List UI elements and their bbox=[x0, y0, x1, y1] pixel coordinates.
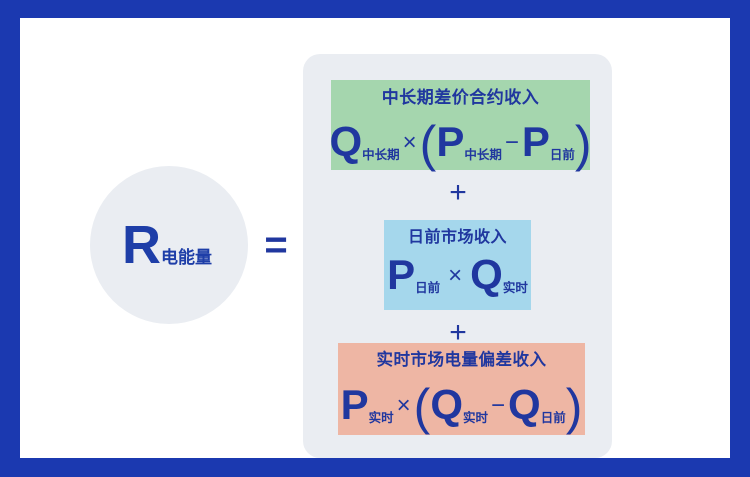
term-symbol: P bbox=[341, 384, 368, 426]
formula-box-heading: 日前市场收入 bbox=[384, 225, 531, 250]
term-symbol: Q bbox=[430, 384, 462, 426]
term-subscript: 实时 bbox=[503, 282, 528, 295]
term-subscript: 日前 bbox=[415, 282, 440, 295]
paren-close: ) bbox=[575, 119, 592, 169]
formula-panel: 中长期差价合约收入 Q 中长期 × ( P 中长期 − P 日前 ) + 日 bbox=[303, 54, 612, 458]
term-symbol: Q bbox=[508, 384, 540, 426]
plus-sign-1: + bbox=[443, 178, 473, 208]
times-operator: × bbox=[403, 131, 417, 155]
term-subscript: 日前 bbox=[541, 412, 566, 425]
formula-expression: P 日前 × Q 实时 bbox=[384, 254, 531, 296]
times-operator: × bbox=[397, 394, 411, 418]
equals-sign: = bbox=[258, 223, 294, 267]
term-subscript: 实时 bbox=[463, 412, 488, 425]
term-symbol: P bbox=[387, 254, 414, 296]
formula-expression: Q 中长期 × ( P 中长期 − P 日前 ) bbox=[331, 114, 590, 164]
term-subscript: 日前 bbox=[550, 149, 575, 162]
term-subscript: 实时 bbox=[369, 412, 394, 425]
minus-operator: − bbox=[491, 394, 505, 418]
paren-open: ( bbox=[414, 382, 431, 432]
left-term-subscript: 电能量 bbox=[161, 249, 212, 266]
minus-operator: − bbox=[505, 131, 519, 155]
outer-blue-frame: R 电能量 = 中长期差价合约收入 Q 中长期 × ( P 中长期 − P bbox=[0, 0, 750, 477]
formula-box-heading: 实时市场电量偏差收入 bbox=[338, 348, 585, 373]
formula-box-real-time-deviation: 实时市场电量偏差收入 P 实时 × ( Q 实时 − Q 日前 ) bbox=[338, 343, 585, 435]
times-operator: × bbox=[448, 264, 462, 288]
left-term-symbol: R bbox=[122, 218, 160, 272]
term-subscript: 中长期 bbox=[362, 149, 400, 162]
term-symbol: Q bbox=[329, 121, 361, 163]
term-subscript: 中长期 bbox=[464, 149, 502, 162]
paren-open: ( bbox=[420, 119, 437, 169]
term-symbol: P bbox=[436, 121, 463, 163]
left-term-circle: R 电能量 bbox=[90, 166, 248, 324]
diagram-canvas: R 电能量 = 中长期差价合约收入 Q 中长期 × ( P 中长期 − P bbox=[20, 18, 730, 458]
paren-close: ) bbox=[566, 382, 583, 432]
left-term: R 电能量 bbox=[122, 218, 212, 272]
formula-box-heading: 中长期差价合约收入 bbox=[331, 85, 590, 110]
formula-expression: P 实时 × ( Q 实时 − Q 日前 ) bbox=[338, 377, 585, 427]
formula-box-day-ahead: 日前市场收入 P 日前 × Q 实时 bbox=[384, 220, 531, 310]
term-symbol: Q bbox=[470, 254, 502, 296]
formula-box-mid-long-term: 中长期差价合约收入 Q 中长期 × ( P 中长期 − P 日前 ) bbox=[331, 80, 590, 170]
term-symbol: P bbox=[522, 121, 549, 163]
